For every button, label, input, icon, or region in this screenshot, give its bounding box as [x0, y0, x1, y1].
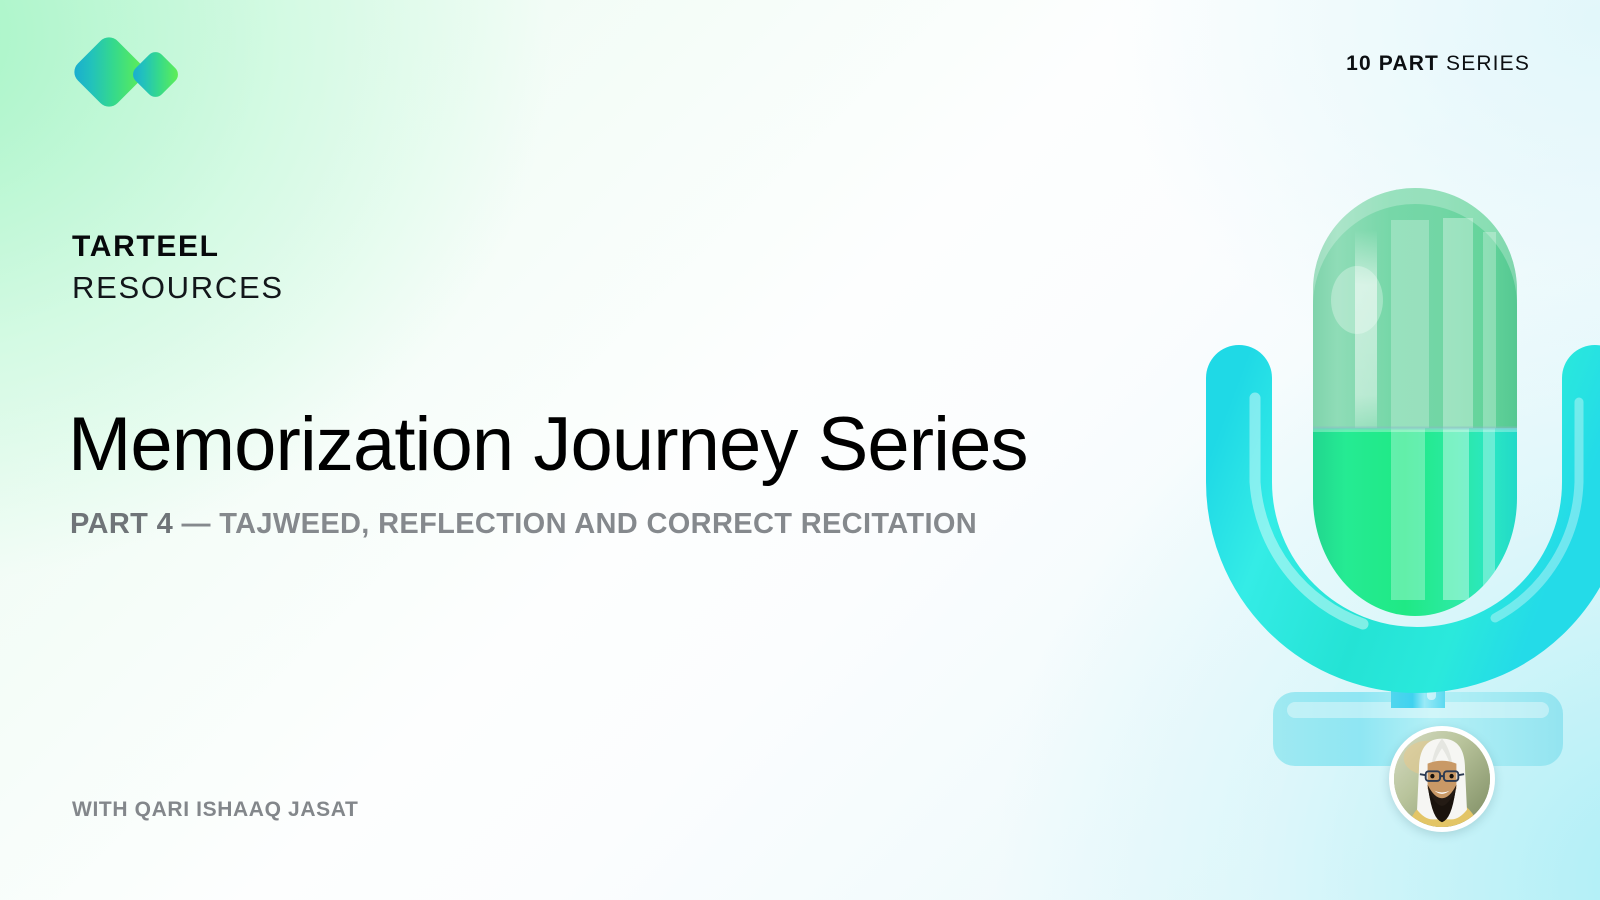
series-count-label: 10 PART — [1346, 52, 1439, 75]
microphone-icon — [1195, 110, 1600, 850]
tarteel-logo[interactable] — [72, 36, 196, 108]
byline: WITH QARI ISHAAQ JASAT — [72, 798, 358, 822]
avatar[interactable] — [1389, 726, 1495, 832]
brand-name: TARTEEL — [72, 232, 284, 262]
part-description-label: — TAJWEED, REFLECTION AND CORRECT RECITA… — [173, 508, 977, 540]
mic-stand-post — [1391, 630, 1445, 708]
logo-m-mark — [72, 36, 182, 108]
brand-block: TARTEEL RESOURCES — [72, 232, 284, 303]
avatar-image — [1394, 731, 1490, 827]
page-title: Memorization Journey Series — [68, 404, 1028, 486]
page-subtitle: PART 4 — TAJWEED, REFLECTION AND CORRECT… — [70, 508, 977, 541]
brand-subname: RESOURCES — [72, 272, 284, 303]
series-count-badge: 10 PART SERIES — [1346, 52, 1530, 76]
mic-yoke — [1239, 378, 1595, 660]
mic-body — [1313, 420, 1517, 616]
series-word-label: SERIES — [1446, 52, 1530, 75]
part-number-label: PART 4 — [70, 508, 173, 540]
poster-canvas: 10 PART SERIES TARTEEL RESOURCES Memoriz… — [0, 0, 1600, 900]
mic-capsule — [1313, 184, 1517, 450]
